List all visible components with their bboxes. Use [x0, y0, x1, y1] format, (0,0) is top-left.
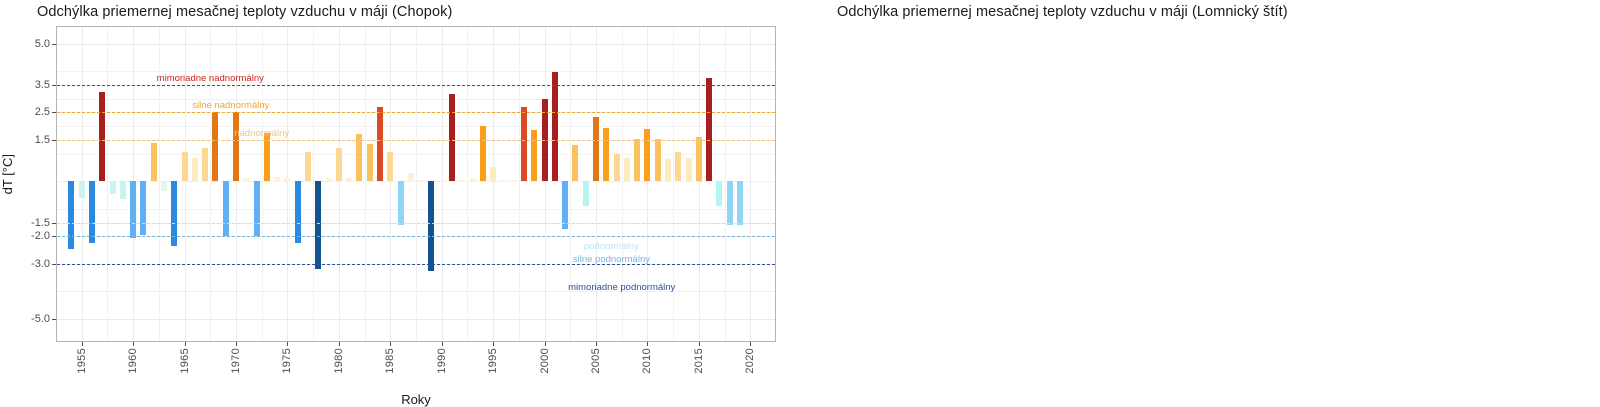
y-axis-tick-mark — [52, 140, 56, 141]
bar — [151, 143, 157, 182]
bar — [182, 152, 188, 181]
x-axis-tick-label: 2010 — [641, 348, 653, 374]
threshold-label: nadnormálny — [234, 128, 289, 140]
x-axis-tick-label: 2015 — [693, 348, 705, 374]
x-axis-tick-mark — [339, 342, 340, 346]
gridline-vertical — [725, 27, 726, 341]
x-axis-tick-mark — [545, 342, 546, 346]
gridline-vertical — [673, 27, 674, 341]
bar — [79, 181, 85, 198]
threshold-line — [57, 112, 775, 113]
bar — [696, 137, 702, 181]
bar — [387, 152, 393, 181]
bar — [120, 181, 126, 199]
y-axis-tick-mark — [52, 85, 56, 86]
x-axis-tick-label: 1985 — [384, 348, 396, 374]
bar — [655, 139, 661, 182]
x-axis-tick-label: 1995 — [487, 348, 499, 374]
bar — [634, 139, 640, 182]
bar — [130, 181, 136, 237]
threshold-label: mimoriadne podnormálny — [568, 282, 675, 294]
x-axis-tick-mark — [133, 342, 134, 346]
gridline-vertical — [339, 27, 340, 341]
x-axis-tick-label: 1960 — [127, 348, 139, 374]
threshold-line — [57, 264, 775, 265]
bar — [315, 181, 321, 269]
x-axis-tick-mark — [82, 342, 83, 346]
y-axis-tick-mark — [52, 44, 56, 45]
page-title: Odchýlka priemernej mesačnej teploty vzd… — [837, 4, 1288, 20]
bar — [305, 152, 311, 181]
y-axis-tick-mark — [52, 319, 56, 320]
x-axis-tick-mark — [236, 342, 237, 346]
gridline-vertical — [313, 27, 314, 341]
bar — [68, 181, 74, 248]
y-axis-tick-label: -1.5 — [22, 217, 50, 229]
bar — [295, 181, 301, 243]
y-axis-tick-label: -5.0 — [22, 313, 50, 325]
x-axis-tick-label: 1980 — [333, 348, 345, 374]
threshold-label: silne nadnormálny — [192, 100, 269, 112]
y-axis-tick-mark — [52, 236, 56, 237]
bar — [593, 117, 599, 182]
x-axis-tick-mark — [750, 342, 751, 346]
threshold-line — [57, 85, 775, 86]
x-axis-tick-mark — [699, 342, 700, 346]
x-axis-tick-label: 2005 — [590, 348, 602, 374]
threshold-label: podnormálny — [584, 241, 639, 253]
bar — [470, 178, 476, 181]
bar — [418, 180, 424, 182]
x-axis-tick-label: 1965 — [179, 348, 191, 374]
threshold-line — [57, 236, 775, 237]
bar — [624, 158, 630, 181]
threshold-line — [57, 223, 775, 224]
gridline-vertical — [519, 27, 520, 341]
x-axis-tick-label: 1955 — [76, 348, 88, 374]
gridline-vertical — [416, 27, 417, 341]
x-axis-tick-mark — [442, 342, 443, 346]
x-axis-tick-label: 1975 — [281, 348, 293, 374]
y-axis-tick-label: 5.0 — [22, 38, 50, 50]
gridline-vertical — [107, 27, 108, 341]
bar — [284, 178, 290, 181]
bar — [511, 180, 517, 182]
bar — [89, 181, 95, 243]
bar — [192, 158, 198, 181]
bar — [727, 181, 733, 225]
gridline-vertical — [287, 27, 288, 341]
x-axis-tick-label: 1970 — [230, 348, 242, 374]
gridline-vertical — [622, 27, 623, 341]
bar — [161, 181, 167, 191]
bar — [346, 178, 352, 181]
chart-page: Odchýlka priemernej mesačnej teploty vzd… — [0, 0, 1600, 400]
bar — [500, 180, 506, 182]
bar — [459, 180, 465, 182]
bar — [140, 181, 146, 235]
y-axis-tick-label: -2.0 — [22, 230, 50, 242]
y-axis-tick-mark — [52, 223, 56, 224]
bar — [408, 173, 414, 181]
bar — [614, 154, 620, 182]
bar — [202, 148, 208, 181]
bar — [480, 126, 486, 181]
chart-panel-chopok: Odchýlka priemernej mesačnej teploty vzd… — [0, 0, 800, 400]
bar — [552, 72, 558, 181]
bar — [233, 112, 239, 181]
y-axis-label: dT [°C] — [0, 154, 15, 194]
x-axis-tick-label: 2020 — [744, 348, 756, 374]
threshold-label: mimoriadne nadnormálny — [157, 73, 264, 85]
bar — [583, 181, 589, 206]
bar — [274, 177, 280, 181]
bar — [99, 92, 105, 182]
x-axis-tick-mark — [647, 342, 648, 346]
gridline-vertical — [647, 27, 648, 341]
bar — [110, 181, 116, 193]
gridline-vertical — [596, 27, 597, 341]
gridline-vertical — [365, 27, 366, 341]
bar — [243, 178, 249, 181]
y-axis-tick-label: 2.5 — [22, 106, 50, 118]
gridline-vertical — [545, 27, 546, 341]
gridline-vertical — [390, 27, 391, 341]
bar — [686, 158, 692, 181]
bar — [644, 129, 650, 181]
bar — [490, 167, 496, 181]
x-axis-tick-mark — [596, 342, 597, 346]
threshold-line — [57, 140, 775, 141]
x-axis-tick-label: 1990 — [436, 348, 448, 374]
bar — [254, 181, 260, 236]
bar — [737, 181, 743, 225]
page-title: Odchýlka priemernej mesačnej teploty vzd… — [37, 4, 452, 20]
bar — [356, 134, 362, 181]
bar — [531, 130, 537, 181]
bar — [377, 107, 383, 181]
bar — [449, 94, 455, 181]
x-axis-tick-mark — [390, 342, 391, 346]
gridline-vertical — [570, 27, 571, 341]
bar — [706, 78, 712, 181]
y-axis-tick-label: -3.0 — [22, 258, 50, 270]
bar — [572, 145, 578, 181]
x-axis-tick-label: 2000 — [539, 348, 551, 374]
bar — [398, 181, 404, 225]
gridline-vertical — [750, 27, 751, 341]
bar — [675, 152, 681, 181]
gridline-vertical — [467, 27, 468, 341]
y-axis-tick-label: 1.5 — [22, 134, 50, 146]
x-axis-tick-mark — [185, 342, 186, 346]
bar — [223, 181, 229, 236]
y-axis-tick-mark — [52, 112, 56, 113]
bar — [665, 159, 671, 181]
bar — [336, 148, 342, 181]
gridline-vertical — [442, 27, 443, 341]
bar — [603, 128, 609, 182]
plot-area: mimoriadne nadnormálnysilne nadnormálnyn… — [56, 26, 776, 342]
gridline-vertical — [699, 27, 700, 341]
bar — [439, 180, 445, 182]
chart-panel-lomnicky-stit: Odchýlka priemernej mesačnej teploty vzd… — [800, 0, 1600, 400]
bar — [521, 107, 527, 181]
bar — [367, 144, 373, 181]
x-axis-tick-mark — [493, 342, 494, 346]
gridline-vertical — [493, 27, 494, 341]
y-axis-tick-mark — [52, 264, 56, 265]
bar — [326, 178, 332, 181]
y-axis-tick-label: 3.5 — [22, 79, 50, 91]
bar — [716, 181, 722, 206]
x-axis-tick-mark — [287, 342, 288, 346]
bar — [212, 112, 218, 181]
bar — [428, 181, 434, 271]
